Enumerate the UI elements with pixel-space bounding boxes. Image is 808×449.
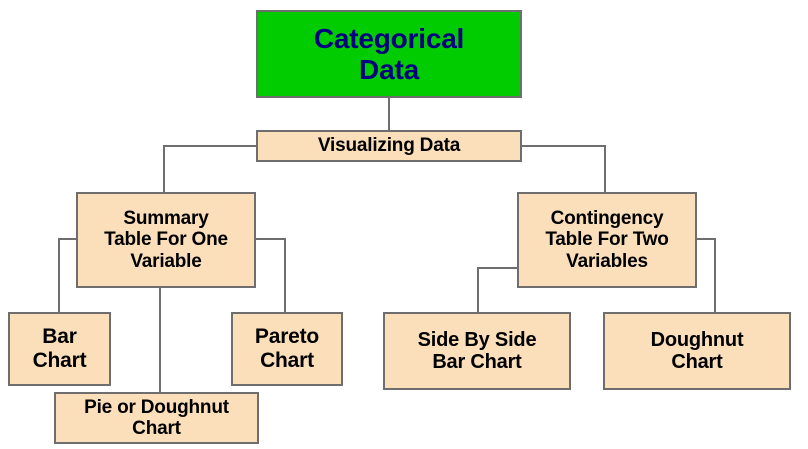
node-doughnut-chart-label: Doughnut Chart: [647, 329, 748, 374]
connector-contingency-to-doughnut-vertical: [714, 238, 716, 313]
node-contingency-table-two-variables: Contingency Table For Two Variables: [517, 192, 697, 288]
node-visualizing-data-label: Visualizing Data: [314, 135, 464, 156]
node-bar-chart-label: Bar Chart: [29, 325, 91, 372]
node-side-by-side-bar-chart-label: Side By Side Bar Chart: [414, 329, 541, 374]
node-categorical-data: Categorical Data: [256, 10, 522, 98]
node-categorical-data-label: Categorical Data: [310, 23, 468, 86]
node-pie-or-doughnut-chart-label: Pie or Doughnut Chart: [80, 397, 233, 440]
node-contingency-table-two-variables-label: Contingency Table For Two Variables: [541, 208, 672, 272]
connector-summary-to-pareto-vertical: [284, 238, 286, 313]
diagram-canvas: Categorical Data Visualizing Data Summar…: [0, 0, 808, 449]
connector-visualizing-right-vertical: [604, 145, 606, 193]
node-pareto-chart: Pareto Chart: [231, 312, 343, 386]
connector-contingency-to-doughnut-horizontal: [695, 238, 716, 240]
connector-visualizing-left-vertical: [163, 145, 165, 193]
connector-visualizing-left-horizontal: [163, 145, 258, 147]
connector-summary-to-pie-vertical: [159, 288, 161, 393]
connector-contingency-to-side-vertical: [477, 267, 479, 313]
node-pareto-chart-label: Pareto Chart: [251, 325, 323, 372]
node-pie-or-doughnut-chart: Pie or Doughnut Chart: [54, 392, 259, 444]
connector-summary-to-pareto-horizontal: [254, 238, 286, 240]
connector-root-to-visualizing: [388, 98, 390, 130]
node-side-by-side-bar-chart: Side By Side Bar Chart: [383, 312, 571, 390]
connector-summary-to-bar-vertical: [58, 238, 60, 313]
node-bar-chart: Bar Chart: [8, 312, 111, 386]
connector-visualizing-right-horizontal: [520, 145, 606, 147]
connector-contingency-to-side-horizontal: [477, 267, 519, 269]
node-doughnut-chart: Doughnut Chart: [603, 312, 791, 390]
node-visualizing-data: Visualizing Data: [256, 130, 522, 162]
node-summary-table-one-variable: Summary Table For One Variable: [76, 192, 256, 288]
node-summary-table-one-variable-label: Summary Table For One Variable: [100, 208, 232, 272]
connector-summary-to-bar-horizontal: [58, 238, 78, 240]
